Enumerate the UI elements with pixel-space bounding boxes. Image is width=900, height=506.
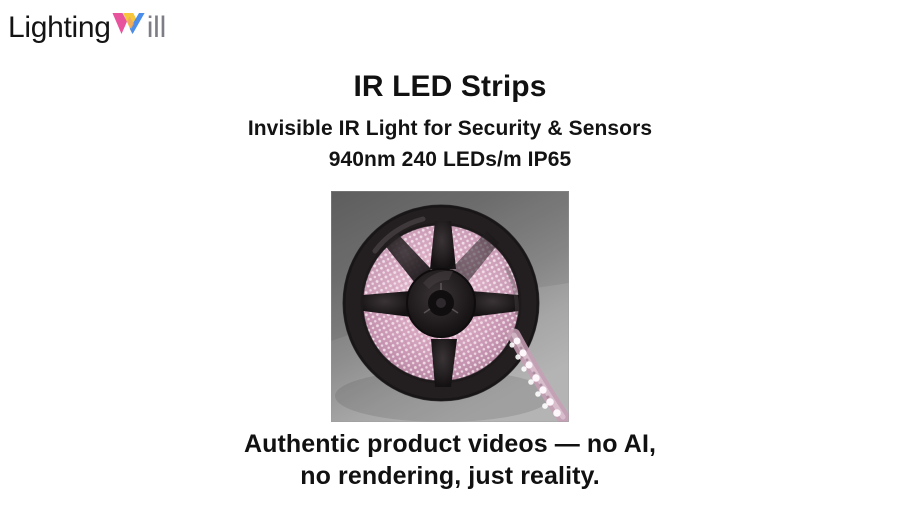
brand-wordmark-primary: Lighting: [8, 11, 111, 45]
subtitle-line-1: Invisible IR Light for Security & Sensor…: [0, 117, 900, 141]
brand-logo[interactable]: Lighting ill: [8, 7, 166, 43]
page-title: IR LED Strips: [0, 70, 900, 104]
subtitle-line-2: 940nm 240 LEDs/m IP65: [0, 148, 900, 172]
led-strip-reel-photo: [331, 191, 569, 422]
caption-line-1: Authentic product videos — no AI,: [0, 430, 900, 459]
caption-line-2: no rendering, just reality.: [0, 462, 900, 491]
w-logo-icon: [110, 7, 148, 37]
brand-wordmark-secondary: ill: [147, 11, 166, 45]
